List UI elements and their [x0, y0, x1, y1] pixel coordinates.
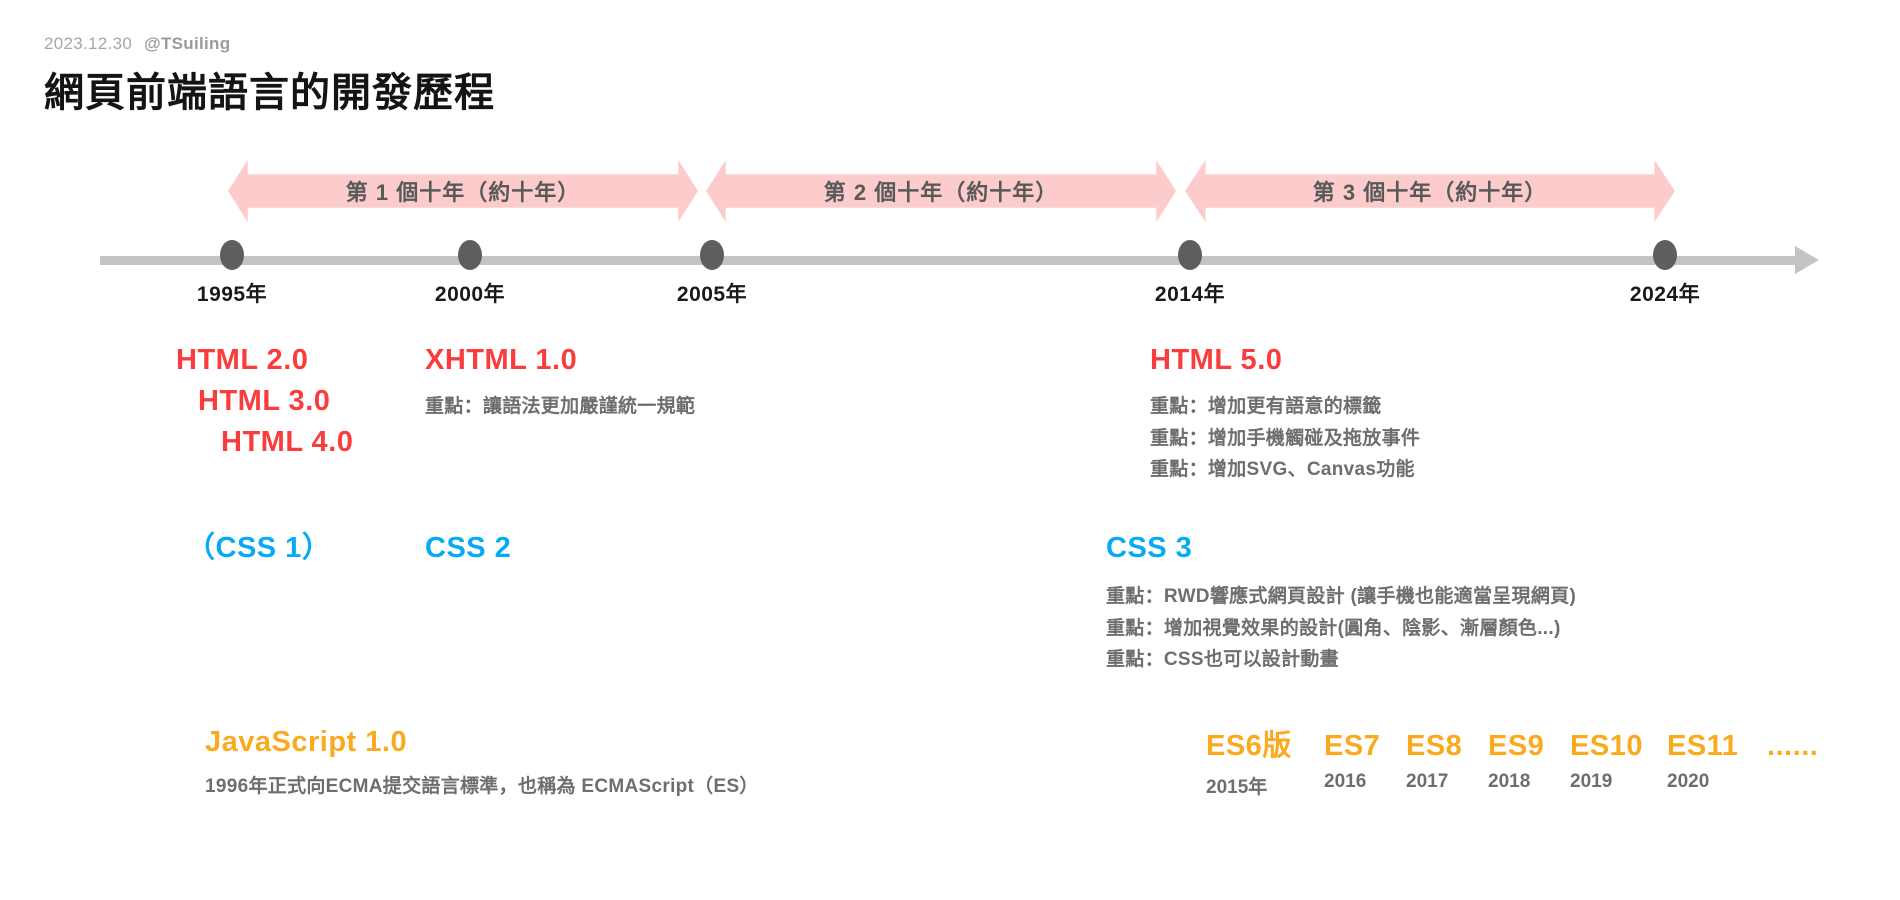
css3-note: 重點：增加視覺效果的設計(圓角、陰影、漸層顏色...) [1106, 613, 1576, 645]
html-version-label: HTML 3.0 [176, 381, 353, 422]
html5-title: HTML 5.0 [1150, 340, 1420, 381]
page-header: 2023.12.30@TSuiling 網頁前端語言的開發歷程 [44, 34, 495, 118]
css2-title: CSS 2 [425, 528, 511, 569]
html-version-label: HTML 2.0 [176, 340, 353, 381]
es-version-year: 2016 [1324, 771, 1406, 793]
html-version-label: HTML 4.0 [176, 422, 353, 463]
es-version-year: 2018 [1488, 771, 1570, 793]
timeline-dot-icon [1653, 240, 1677, 270]
byline: 2023.12.30@TSuiling [44, 34, 495, 54]
timeline-year-label: 2000年 [435, 278, 505, 308]
timeline-year-label: 2024年 [1630, 278, 1700, 308]
css3-note: 重點：CSS也可以設計動畫 [1106, 644, 1576, 676]
css2-group: CSS 2 [425, 528, 511, 569]
es-version-name: ES11 [1667, 730, 1767, 763]
es-version-item: ...... [1767, 730, 1818, 771]
page-title: 網頁前端語言的開發歷程 [44, 60, 495, 118]
html-versions-group: HTML 2.0 HTML 3.0 HTML 4.0 [176, 340, 353, 464]
decade-banner: 第 2 個十年（約十年） [706, 160, 1176, 222]
es-version-name: ES8 [1406, 730, 1488, 763]
es-version-item: ES8 2017 [1406, 730, 1488, 793]
timeline-axis: 1995年 2000年 2005年 2014年 2024年 [0, 240, 1900, 310]
html5-note: 重點：增加手機觸碰及拖放事件 [1150, 423, 1420, 455]
es-version-year: 2017 [1406, 771, 1488, 793]
axis-arrowhead-icon [1795, 246, 1819, 274]
axis-line [100, 256, 1800, 265]
html5-note: 重點：增加更有語意的標籤 [1150, 391, 1420, 423]
es-version-item: ES11 2020 [1667, 730, 1767, 793]
timeline-dot-icon [1178, 240, 1202, 270]
es-version-item: ES9 2018 [1488, 730, 1570, 793]
timeline-year-label: 1995年 [197, 278, 267, 308]
es-version-ellipsis: ...... [1767, 730, 1818, 763]
css3-group: CSS 3 重點：RWD響應式網頁設計 (讓手機也能適當呈現網頁) 重點：增加視… [1106, 528, 1576, 676]
es-version-year: 2019 [1570, 771, 1667, 793]
es-version-item: ES7 2016 [1324, 730, 1406, 793]
es-version-item: ES6版 2015年 [1206, 722, 1324, 799]
es-version-name: ES10 [1570, 730, 1667, 763]
es-version-item: ES10 2019 [1570, 730, 1667, 793]
es-version-name: ES6版 [1206, 722, 1324, 764]
es-version-row: ES6版 2015年 ES7 2016 ES8 2017 ES9 2018 ES… [1206, 722, 1818, 799]
xhtml-group: XHTML 1.0 重點：讓語法更加嚴謹統一規範 [425, 340, 695, 423]
css1-group: （CSS 1） [186, 528, 331, 569]
timeline-dot-icon [220, 240, 244, 270]
es-versions-group: ES6版 2015年 ES7 2016 ES8 2017 ES9 2018 ES… [1206, 722, 1818, 799]
html5-group: HTML 5.0 重點：增加更有語意的標籤 重點：增加手機觸碰及拖放事件 重點：… [1150, 340, 1420, 486]
timeline-dot-icon [700, 240, 724, 270]
javascript-note: 1996年正式向ECMA提交語言標準，也稱為 ECMAScript（ES） [205, 771, 759, 803]
xhtml-title: XHTML 1.0 [425, 340, 695, 381]
es-version-year: 2015年 [1206, 772, 1324, 799]
decade-banner-group: 第 1 個十年（約十年） 第 2 個十年（約十年） 第 3 個十年（約十年） [0, 160, 1900, 222]
author-handle: @TSuiling [144, 34, 230, 53]
javascript-title: JavaScript 1.0 [205, 722, 759, 763]
decade-banner-label: 第 2 個十年（約十年） [824, 175, 1058, 207]
es-version-name: ES7 [1324, 730, 1406, 763]
decade-banner: 第 3 個十年（約十年） [1185, 160, 1675, 222]
css3-note: 重點：RWD響應式網頁設計 (讓手機也能適當呈現網頁) [1106, 581, 1576, 613]
es-version-name: ES9 [1488, 730, 1570, 763]
javascript-group: JavaScript 1.0 1996年正式向ECMA提交語言標準，也稱為 EC… [205, 722, 759, 803]
es-version-year: 2020 [1667, 771, 1767, 793]
xhtml-note: 重點：讓語法更加嚴謹統一規範 [425, 391, 695, 423]
publish-date: 2023.12.30 [44, 34, 132, 53]
timeline-dot-icon [458, 240, 482, 270]
html5-note: 重點：增加SVG、Canvas功能 [1150, 454, 1420, 486]
timeline-year-label: 2005年 [677, 278, 747, 308]
decade-banner: 第 1 個十年（約十年） [228, 160, 698, 222]
decade-banner-label: 第 3 個十年（約十年） [1313, 175, 1547, 207]
decade-banner-label: 第 1 個十年（約十年） [346, 175, 580, 207]
css1-title: （CSS 1） [186, 528, 331, 569]
css3-title: CSS 3 [1106, 528, 1576, 569]
timeline-year-label: 2014年 [1155, 278, 1225, 308]
